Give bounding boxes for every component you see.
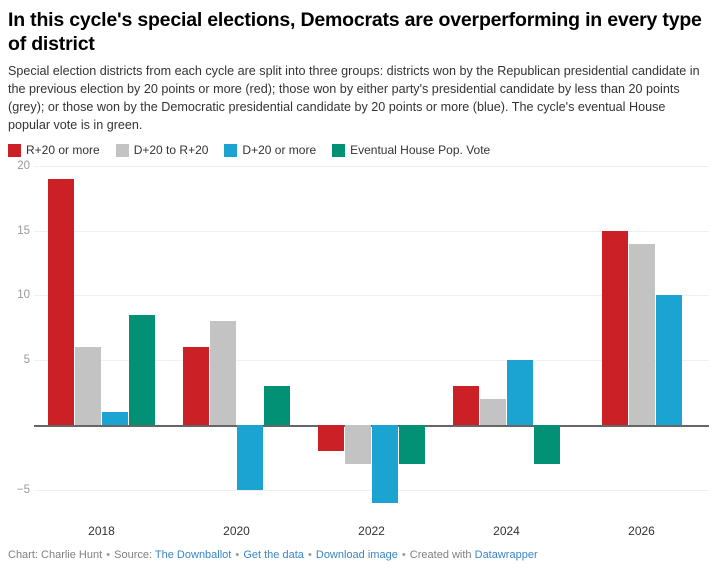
legend-item[interactable]: D+20 or more [224, 144, 316, 157]
footer-datawrapper-link[interactable]: Datawrapper [475, 549, 538, 561]
bar[interactable] [656, 295, 682, 425]
bar[interactable] [48, 179, 74, 425]
legend-item-label: D+20 or more [242, 144, 316, 156]
y-axis-tick-label: 20 [17, 160, 34, 172]
footer-separator-4: • [401, 549, 407, 561]
bar[interactable] [534, 425, 560, 464]
y-axis-tick-label: 5 [24, 354, 34, 366]
bar[interactable] [453, 386, 479, 425]
legend-swatch-icon [8, 144, 21, 157]
legend-item-label: D+20 to R+20 [134, 144, 209, 156]
legend-item-label: Eventual House Pop. Vote [350, 144, 490, 156]
footer-separator-3: • [307, 549, 313, 561]
chart-legend: R+20 or moreD+20 to R+20D+20 or moreEven… [0, 135, 717, 157]
chart-page: In this cycle's special elections, Democ… [0, 0, 717, 569]
bar[interactable] [372, 425, 398, 503]
x-axis: 20182020202220242026 [34, 516, 709, 542]
footer-created-with-label: Created with [410, 549, 472, 561]
x-axis-tick-label: 2026 [628, 524, 655, 538]
bar[interactable] [129, 315, 155, 425]
bars-container [34, 166, 709, 516]
y-axis-tick-label: −5 [17, 484, 34, 496]
legend-swatch-icon [116, 144, 129, 157]
chart-footer: Chart: Charlie Hunt • Source: The Downba… [8, 549, 538, 561]
footer-separator-2: • [234, 549, 240, 561]
bar[interactable] [507, 360, 533, 425]
chart-description: Special election districts from each cyc… [0, 56, 717, 135]
bar[interactable] [480, 399, 506, 425]
footer-source-label: Source: [114, 549, 152, 561]
footer-source-link[interactable]: The Downballot [155, 549, 231, 561]
footer-get-data-link[interactable]: Get the data [243, 549, 304, 561]
y-axis: 2015105−5 [0, 166, 34, 516]
y-axis-tick-label: 10 [17, 289, 34, 301]
bar[interactable] [264, 386, 290, 425]
x-axis-tick-label: 2022 [358, 524, 385, 538]
page-title: In this cycle's special elections, Democ… [0, 0, 717, 56]
bar[interactable] [183, 347, 209, 425]
bar[interactable] [345, 425, 371, 464]
bar[interactable] [237, 425, 263, 490]
bar[interactable] [629, 244, 655, 425]
legend-item-label: R+20 or more [26, 144, 100, 156]
footer-separator-1: • [105, 549, 111, 561]
bar[interactable] [399, 425, 425, 464]
bar[interactable] [602, 231, 628, 425]
x-axis-tick-label: 2020 [223, 524, 250, 538]
x-axis-tick-label: 2024 [493, 524, 520, 538]
bar[interactable] [102, 412, 128, 425]
legend-item[interactable]: D+20 to R+20 [116, 144, 209, 157]
plot-area: 2015105−5 20182020202220242026 [0, 166, 717, 516]
bar[interactable] [75, 347, 101, 425]
y-axis-tick-label: 15 [17, 225, 34, 237]
legend-item[interactable]: Eventual House Pop. Vote [332, 144, 490, 157]
bar[interactable] [210, 321, 236, 425]
footer-download-image-link[interactable]: Download image [316, 549, 398, 561]
legend-swatch-icon [224, 144, 237, 157]
footer-chart-credit: Chart: Charlie Hunt [8, 549, 102, 561]
bar[interactable] [318, 425, 344, 451]
legend-item[interactable]: R+20 or more [8, 144, 100, 157]
x-axis-tick-label: 2018 [88, 524, 115, 538]
legend-swatch-icon [332, 144, 345, 157]
